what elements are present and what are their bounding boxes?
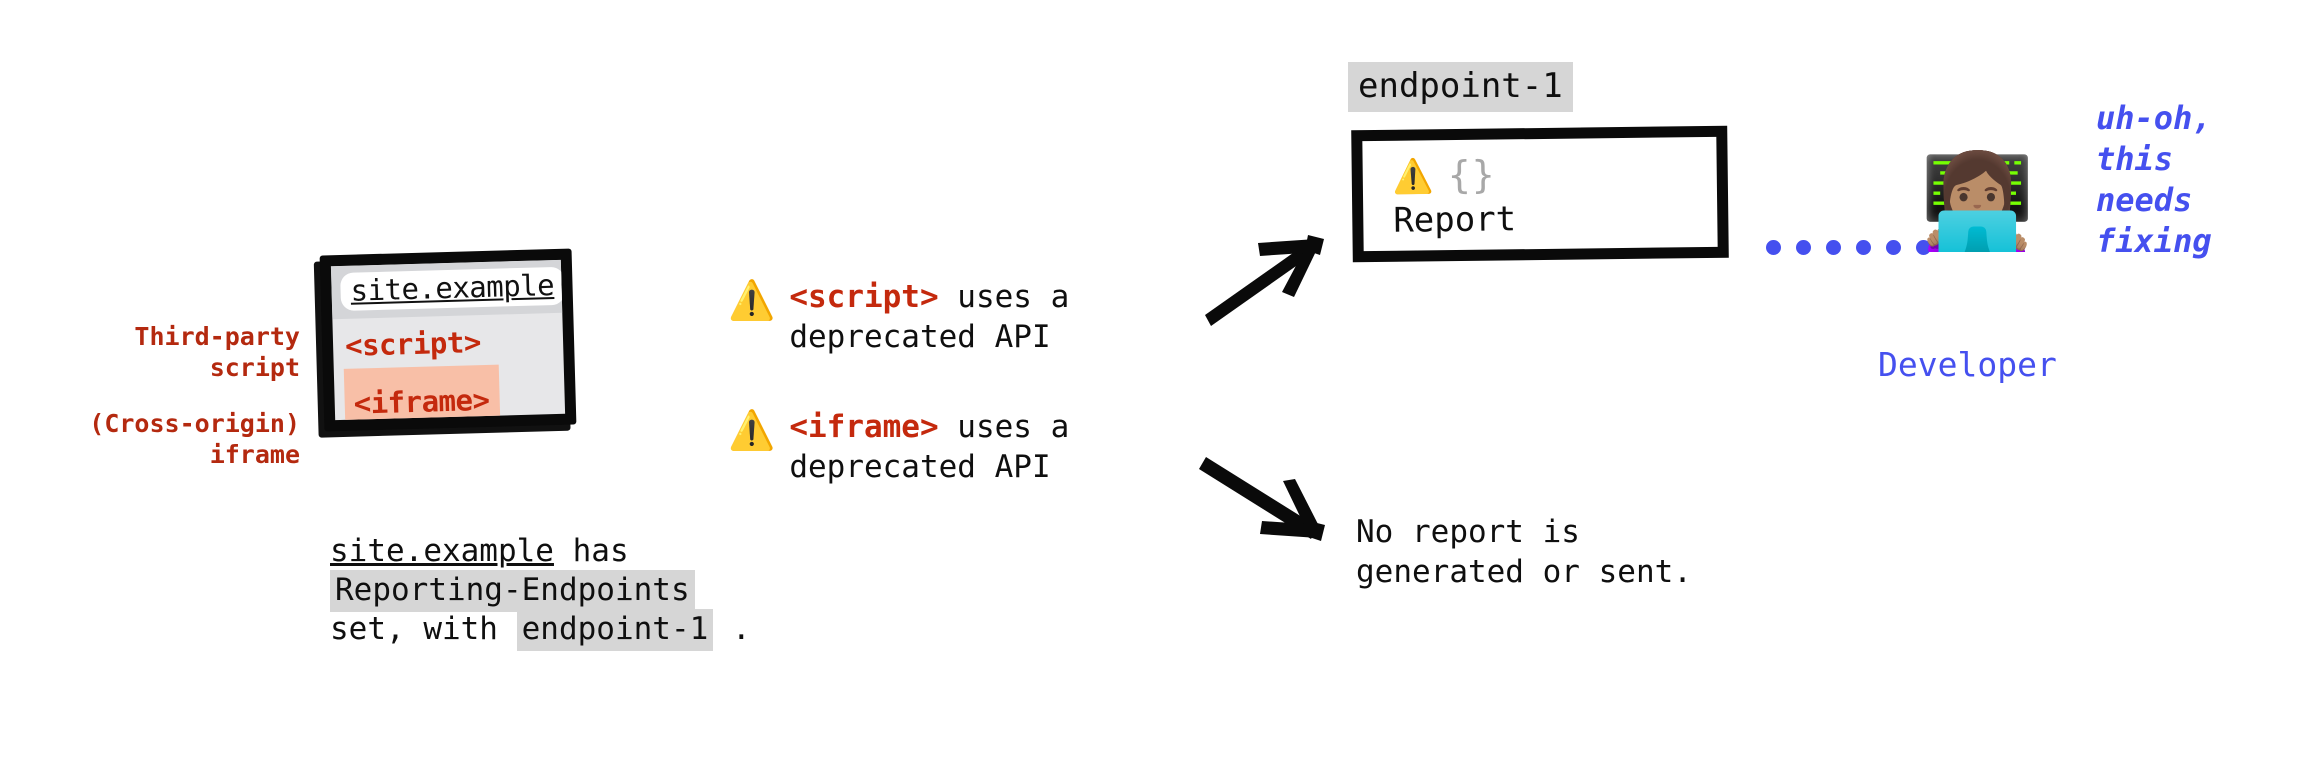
- warning-rest-script: uses a: [939, 279, 1070, 315]
- code-row-script: <script>: [345, 324, 552, 364]
- side-annotation-labels: Third-party script (Cross-origin) iframe: [40, 322, 300, 470]
- caption-line-2: Reporting-Endpoints: [330, 571, 890, 610]
- developer-label: Developer: [1878, 345, 2057, 384]
- caption-period: .: [713, 611, 750, 647]
- connector-dot: [1826, 240, 1841, 255]
- warning-line2-iframe: deprecated API: [789, 449, 1050, 485]
- arrow-to-report-icon: [1178, 205, 1358, 335]
- url-bar[interactable]: site.example: [340, 267, 565, 312]
- cross-origin-iframe-label-line2: iframe: [40, 440, 300, 471]
- report-icon-row: ⚠️ {}: [1393, 155, 1516, 194]
- report-title: Report: [1393, 199, 1516, 240]
- third-party-script-label-line1: Third-party: [40, 322, 300, 353]
- browser-content: <script> <iframe>: [332, 313, 566, 431]
- caption-set-with: set, with: [330, 611, 517, 647]
- developer-quote-line3: needs: [2096, 181, 2192, 219]
- connector-dot: [1856, 240, 1871, 255]
- report-box: ⚠️ {} Report: [1351, 126, 1729, 263]
- caption-line-1: site.example has: [330, 532, 890, 571]
- browser-chrome: site.example: [331, 260, 562, 320]
- dotted-connector: [1766, 240, 1931, 255]
- report-box-content: ⚠️ {} Report: [1393, 155, 1517, 240]
- warning-tag-iframe: <iframe>: [789, 409, 938, 445]
- warning-text-iframe: <iframe> uses adeprecated API: [789, 408, 1069, 487]
- no-report-line1: No report is: [1356, 514, 1580, 550]
- cross-origin-iframe-label-line1: (Cross-origin): [40, 409, 300, 440]
- browser-window: site.example <script> <iframe>: [320, 249, 577, 432]
- developer-quote-line4: fixing: [2096, 222, 2212, 260]
- warning-row-script: ⚠️ <script> uses adeprecated API: [728, 278, 1069, 357]
- developer-quote: uh-oh,thisneedsfixing: [2096, 98, 2212, 262]
- diagram-canvas: Third-party script (Cross-origin) iframe…: [0, 0, 2324, 762]
- warning-triangle-icon: ⚠️: [1393, 159, 1434, 192]
- warning-row-iframe: ⚠️ <iframe> uses adeprecated API: [728, 408, 1069, 487]
- connector-dot: [1796, 240, 1811, 255]
- caption-header-chip: Reporting-Endpoints: [330, 570, 695, 612]
- caption-line-3: set, with endpoint-1 .: [330, 610, 890, 649]
- warning-triangle-icon: ⚠️: [728, 281, 775, 319]
- browser-caption: site.example has Reporting-Endpoints set…: [330, 532, 890, 649]
- no-report-line2: generated or sent.: [1356, 554, 1692, 590]
- warning-rest-iframe: uses a: [939, 409, 1070, 445]
- developer-quote-line2: this: [2096, 140, 2173, 178]
- caption-endpoint-chip: endpoint-1: [517, 609, 714, 651]
- cross-origin-iframe-label: (Cross-origin) iframe: [40, 409, 300, 470]
- third-party-script-label: Third-party script: [40, 322, 300, 383]
- connector-dot: [1766, 240, 1781, 255]
- caption-has: has: [554, 533, 629, 569]
- warning-triangle-icon: ⚠️: [728, 411, 775, 449]
- developer-avatar-icon: 👩🏽‍💻: [1920, 156, 2035, 248]
- connector-dot: [1886, 240, 1901, 255]
- warning-line2-script: deprecated API: [789, 319, 1050, 355]
- arrow-to-no-report-icon: [1178, 435, 1358, 565]
- third-party-script-label-line2: script: [40, 353, 300, 384]
- caption-site-name: site.example: [330, 533, 554, 569]
- no-report-text: No report isgenerated or sent.: [1356, 513, 1692, 592]
- browser-window-frame: site.example <script> <iframe>: [320, 249, 577, 432]
- url-text: site.example: [350, 268, 554, 308]
- developer-quote-line1: uh-oh,: [2096, 99, 2212, 137]
- code-row-iframe: <iframe>: [344, 364, 501, 431]
- warning-text-script: <script> uses adeprecated API: [789, 278, 1069, 357]
- json-braces-icon: {}: [1448, 156, 1496, 195]
- endpoint-name-label: endpoint-1: [1348, 62, 1573, 112]
- warning-tag-script: <script>: [789, 279, 938, 315]
